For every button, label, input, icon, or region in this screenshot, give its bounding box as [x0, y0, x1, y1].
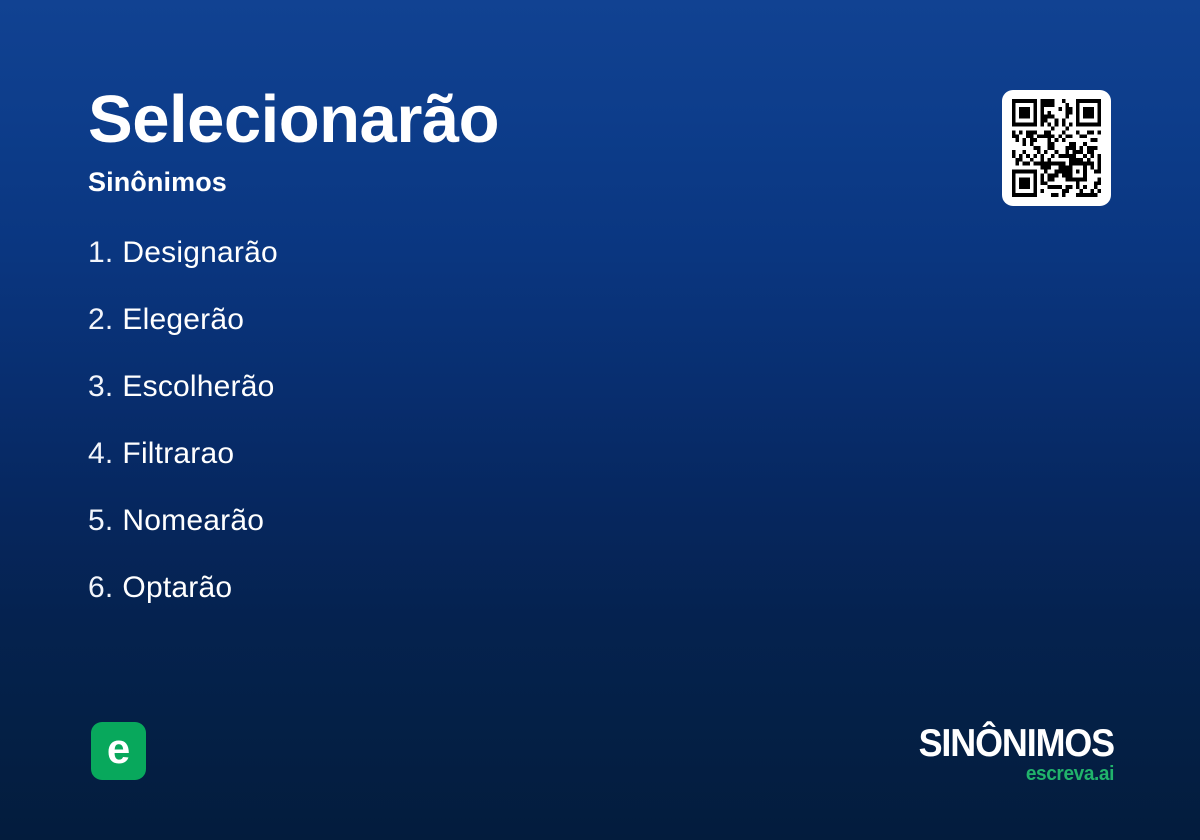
synonyms-list: 1.Designarão2.Elegerão3.Escolherão4.Filt…: [88, 236, 848, 638]
list-item-index: 4.: [88, 437, 113, 471]
list-item: 6.Optarão: [88, 571, 848, 638]
list-item: 3.Escolherão: [88, 370, 848, 437]
card-header: Selecionarão Sinônimos: [88, 86, 788, 198]
list-item-word: Designarão: [122, 236, 277, 270]
list-item-word: Elegerão: [122, 303, 244, 337]
brand-domain: escreva.ai: [829, 764, 1114, 784]
list-item: 1.Designarão: [88, 236, 848, 303]
list-item-index: 6.: [88, 571, 113, 605]
brand-name: SINÔNIMOS: [838, 724, 1114, 763]
list-item-index: 3.: [88, 370, 113, 404]
qr-code-icon: [1012, 99, 1101, 197]
qr-code-container[interactable]: [1002, 90, 1111, 206]
list-item-index: 5.: [88, 504, 113, 538]
section-label: Sinônimos: [88, 167, 788, 198]
list-item-index: 2.: [88, 303, 113, 337]
list-item-word: Escolherão: [122, 370, 274, 404]
list-item: 2.Elegerão: [88, 303, 848, 370]
list-item-word: Optarão: [122, 571, 232, 605]
synonyms-card: Selecionarão Sinônimos 1.Designarão2.Ele…: [0, 0, 1200, 840]
list-item-word: Nomearão: [122, 504, 264, 538]
escreva-badge-icon[interactable]: e: [91, 722, 146, 780]
badge-letter: e: [107, 728, 130, 770]
list-item: 4.Filtrarao: [88, 437, 848, 504]
brand-logo[interactable]: SINÔNIMOS escreva.ai: [814, 724, 1114, 784]
list-item-word: Filtrarao: [122, 437, 234, 471]
list-item-index: 1.: [88, 236, 113, 270]
list-item: 5.Nomearão: [88, 504, 848, 571]
page-title: Selecionarão: [88, 86, 788, 153]
